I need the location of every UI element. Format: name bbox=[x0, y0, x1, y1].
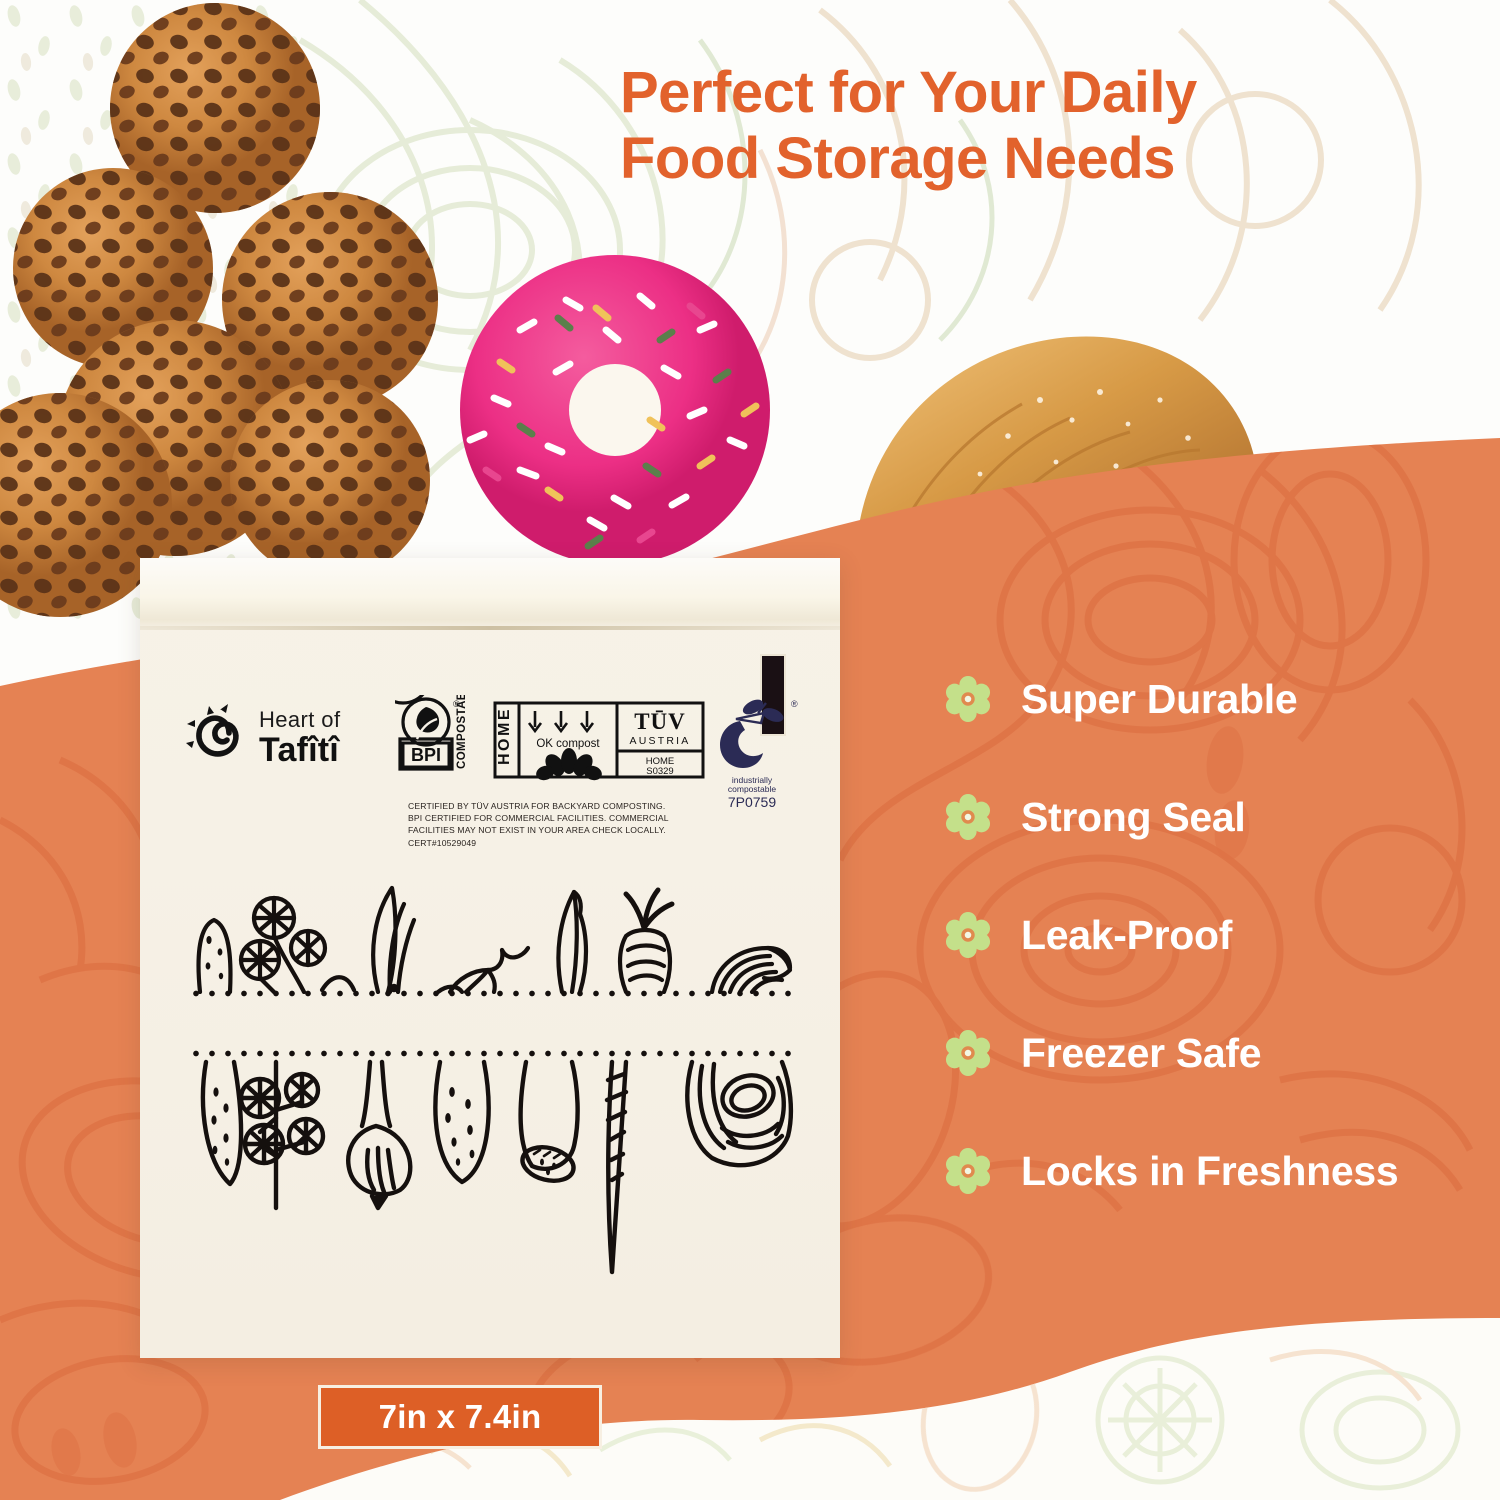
fine-print-line: CERT#10529049 bbox=[408, 837, 688, 849]
size-badge: 7in x 7.4in bbox=[318, 1385, 602, 1449]
dotted-divider-bottom bbox=[188, 1050, 792, 1057]
certification-badge-group: BPI COMPOSTABLE ® HOME OK compost bbox=[395, 695, 805, 815]
feature-item-strong-seal: Strong Seal bbox=[945, 758, 1490, 876]
fine-print-line: CERTIFIED BY TÜV AUSTRIA FOR BACKYARD CO… bbox=[408, 800, 688, 812]
bpi-compostable-badge: BPI COMPOSTABLE ® bbox=[395, 695, 468, 769]
bag-zipper-seam bbox=[140, 626, 840, 630]
bag-zipper-strip bbox=[140, 558, 840, 630]
headline-line-1: Perfect for Your Daily bbox=[620, 60, 1197, 125]
feature-item-leak-proof: Leak-Proof bbox=[945, 876, 1490, 994]
tuv-austria-badge: TŪV AUSTRIA HOME S0329 bbox=[617, 703, 703, 777]
headline-line-2: Food Storage Needs bbox=[620, 126, 1380, 192]
flower-icon bbox=[945, 676, 991, 722]
fine-print-line: BPI CERTIFIED FOR COMMERCIAL FACILITIES.… bbox=[408, 812, 688, 824]
home-ok-compost-badge: HOME OK compost bbox=[495, 703, 617, 782]
flower-icon bbox=[945, 1148, 991, 1194]
svg-text:®: ® bbox=[791, 699, 798, 709]
svg-text:compostable: compostable bbox=[728, 784, 776, 794]
feature-item-locks-in-freshness: Locks in Freshness bbox=[945, 1112, 1490, 1230]
size-badge-label: 7in x 7.4in bbox=[379, 1398, 542, 1436]
brand-line-2: Tafîtî bbox=[259, 733, 340, 767]
product-marketing-image: Perfect for Your Daily Food Storage Need… bbox=[0, 0, 1500, 1500]
svg-text:®: ® bbox=[453, 699, 460, 709]
feature-label: Super Durable bbox=[1021, 676, 1297, 723]
svg-text:S0329: S0329 bbox=[646, 766, 673, 777]
fine-print-line: FACILITIES MAY NOT EXIST IN YOUR AREA CH… bbox=[408, 824, 688, 836]
seedling-compostable-badge: ® industrially compostable 7P0759 bbox=[720, 697, 798, 810]
svg-text:BPI: BPI bbox=[411, 745, 441, 765]
svg-text:HOME: HOME bbox=[496, 707, 513, 765]
brand-line-1: Heart of bbox=[259, 709, 340, 731]
feature-label: Freezer Safe bbox=[1021, 1030, 1261, 1077]
svg-text:TŪV: TŪV bbox=[634, 709, 686, 734]
bag-fine-print: CERTIFIED BY TÜV AUSTRIA FOR BACKYARD CO… bbox=[408, 800, 688, 849]
headline: Perfect for Your Daily Food Storage Need… bbox=[620, 60, 1380, 192]
svg-text:7P0759: 7P0759 bbox=[728, 794, 776, 810]
flower-icon bbox=[945, 794, 991, 840]
feature-label: Strong Seal bbox=[1021, 794, 1246, 841]
feature-list: Super Durable Strong Seal bbox=[945, 640, 1490, 1230]
feature-label: Leak-Proof bbox=[1021, 912, 1232, 959]
feature-item-freezer-safe: Freezer Safe bbox=[945, 994, 1490, 1112]
flower-icon bbox=[945, 912, 991, 958]
feature-item-super-durable: Super Durable bbox=[945, 640, 1490, 758]
vegetable-art-top-row bbox=[182, 874, 798, 994]
dotted-divider-top bbox=[188, 990, 792, 997]
spiral-koru-icon bbox=[185, 703, 251, 773]
svg-text:AUSTRIA: AUSTRIA bbox=[630, 735, 691, 747]
feature-label: Locks in Freshness bbox=[1021, 1148, 1398, 1195]
product-bag: Heart of Tafîtî BPI COMPOSTABLE ® bbox=[140, 558, 840, 1358]
vegetable-art-bottom-row bbox=[182, 1058, 798, 1308]
flower-icon bbox=[945, 1030, 991, 1076]
